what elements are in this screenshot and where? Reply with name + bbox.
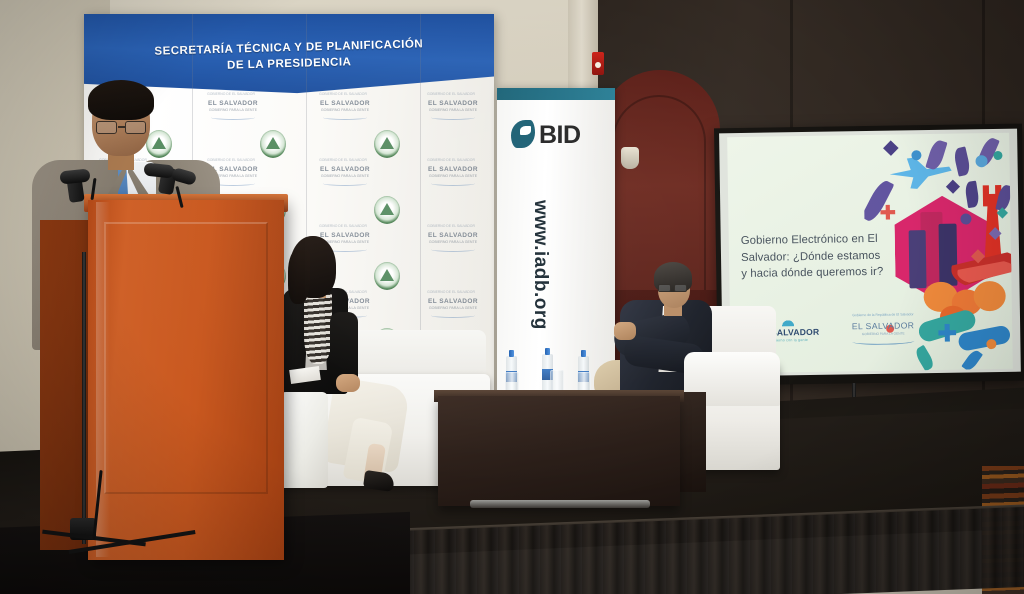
banner-logo-topline: GOBIERNO DE EL SALVADOR xyxy=(422,224,480,228)
diamond-shape xyxy=(883,140,899,156)
coffee-table-base xyxy=(470,500,650,508)
wave-icon xyxy=(852,337,914,345)
eyeglasses-icon xyxy=(96,121,117,134)
slide-title: Gobierno Electrónico en El Salvador: ¿Dó… xyxy=(741,230,918,282)
coat-of-arms-triangle xyxy=(380,137,394,149)
banner-logo-name: EL SALVADOR xyxy=(428,100,478,107)
banner-logo-topline: GOBIERNO DE EL SALVADOR xyxy=(314,158,372,162)
airplane-icon xyxy=(889,156,952,191)
panelist-woman-scarf xyxy=(304,294,332,364)
coat-of-arms-triangle xyxy=(266,137,280,149)
banner-logo-name: EL SALVADOR xyxy=(428,298,478,305)
coat-of-arms-triangle xyxy=(380,203,394,215)
el-salvador-coat-of-arms-icon xyxy=(374,130,400,158)
crown-icon xyxy=(779,320,797,326)
banner-logo-wordmark: EL SALVADORGOBIERNO PARA LA GENTE xyxy=(314,100,376,120)
banner-logo-tagline: GOBIERNO PARA LA GENTE xyxy=(422,107,484,114)
banner-logo-topline: GOBIERNO DE EL SALVADOR xyxy=(314,92,372,96)
diamond-shape xyxy=(946,180,960,194)
banner-logo-name: EL SALVADOR xyxy=(320,166,370,173)
eyeglasses-icon xyxy=(125,121,146,134)
wave-icon xyxy=(431,247,475,252)
leaf-shape xyxy=(961,348,983,371)
wave-icon xyxy=(323,115,367,120)
coat-of-arms-triangle xyxy=(152,137,166,149)
slide-title-line3: y hacia dónde queremos ir? xyxy=(741,263,917,282)
banner-logo-wordmark: EL SALVADORGOBIERNO PARA LA GENTE xyxy=(422,166,484,186)
wall-lamp xyxy=(621,147,639,169)
el-salvador-coat-of-arms-icon xyxy=(146,130,172,158)
banner-logo-wordmark: EL SALVADORGOBIERNO PARA LA GENTE xyxy=(422,100,484,120)
banner-logo-name: EL SALVADOR xyxy=(428,232,478,239)
banner-logo-topline: GOBIERNO DE EL SALVADOR xyxy=(314,224,372,228)
slide-logo-right-topline: Gobierno de la República de El Salvador xyxy=(840,312,926,317)
bid-logo-icon xyxy=(511,120,535,148)
leaf-shape xyxy=(925,139,947,172)
floor-microphone-stand-pole xyxy=(82,252,86,544)
wave-icon xyxy=(323,181,367,186)
banner-logo-tagline: GOBIERNO PARA LA GENTE xyxy=(314,107,376,114)
banner-logo-wordmark: EL SALVADORGOBIERNO PARA LA GENTE xyxy=(202,100,264,120)
banner-logo-name: EL SALVADOR xyxy=(428,166,478,173)
dot-shape xyxy=(986,339,996,349)
leaf-shape xyxy=(953,146,972,176)
banner-logo-tagline: GOBIERNO PARA LA GENTE xyxy=(422,173,484,180)
leaf-shape xyxy=(964,181,980,209)
coat-of-arms-triangle xyxy=(380,269,394,281)
bid-url-text: www.iadb.org xyxy=(529,200,551,330)
wave-icon xyxy=(431,115,475,120)
banner-logo-wordmark: EL SALVADORGOBIERNO PARA LA GENTE xyxy=(314,166,376,186)
slide-logo-right-name: EL SALVADOR xyxy=(840,320,926,331)
dark-wood-coffee-table xyxy=(438,396,680,506)
panelist-woman-hair-front xyxy=(288,250,310,304)
panelist-woman-hands xyxy=(336,374,360,392)
banner-logo-topline: GOBIERNO DE EL SALVADOR xyxy=(202,92,260,96)
banner-logo-tagline: GOBIERNO PARA LA GENTE xyxy=(314,173,376,180)
conference-photo-scene: SECRETARÍA TÉCNICA Y DE PLANIFICACIÓN DE… xyxy=(0,0,1024,594)
eyeglasses-bridge xyxy=(118,126,126,128)
speaker-hair xyxy=(88,80,154,120)
bid-logo-text: BID xyxy=(539,121,581,150)
banner-logo-topline: GOBIERNO DE EL SALVADOR xyxy=(202,158,260,162)
eyeglasses-icon xyxy=(674,284,687,292)
el-salvador-coat-of-arms-icon xyxy=(374,262,400,290)
wave-icon xyxy=(211,115,255,120)
panelist-man-hand xyxy=(614,322,636,340)
banner-logo-tagline: GOBIERNO PARA LA GENTE xyxy=(422,239,484,246)
dot-shape xyxy=(960,213,971,224)
el-salvador-coat-of-arms-icon xyxy=(260,130,286,158)
banner-logo-name: EL SALVADOR xyxy=(320,232,370,239)
fire-alarm-icon xyxy=(592,52,604,75)
eyeglasses-icon xyxy=(658,284,671,292)
banner-logo-tagline: GOBIERNO PARA LA GENTE xyxy=(422,305,484,312)
dot-shape xyxy=(911,150,921,160)
dot-shape xyxy=(993,151,1002,160)
podium-front-inset xyxy=(104,222,268,494)
banner-logo-topline: GOBIERNO DE EL SALVADOR xyxy=(422,158,480,162)
slide-logo-el-salvador-secondary: Gobierno de la República de El Salvador … xyxy=(840,312,926,345)
bid-banner-top-band xyxy=(497,88,615,100)
banner-logo-topline: GOBIERNO DE EL SALVADOR xyxy=(422,92,480,96)
banner-logo-name: EL SALVADOR xyxy=(320,100,370,107)
banner-logo-tagline: GOBIERNO PARA LA GENTE xyxy=(202,107,264,114)
banner-logo-name: EL SALVADOR xyxy=(208,100,258,107)
wave-icon xyxy=(431,313,475,318)
slide-logo-right-tagline: GOBIERNO PARA LA GENTE xyxy=(840,331,926,336)
wave-icon xyxy=(431,181,475,186)
banner-logo-wordmark: EL SALVADORGOBIERNO PARA LA GENTE xyxy=(422,232,484,252)
circle-shape xyxy=(973,281,1005,311)
el-salvador-coat-of-arms-icon xyxy=(374,196,400,224)
banner-logo-topline: GOBIERNO DE EL SALVADOR xyxy=(422,290,480,294)
banner-logo-wordmark: EL SALVADORGOBIERNO PARA LA GENTE xyxy=(422,298,484,318)
